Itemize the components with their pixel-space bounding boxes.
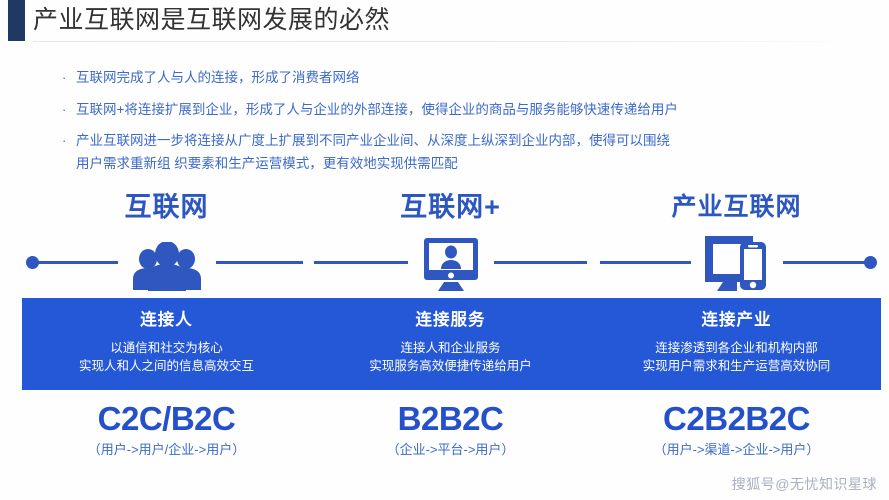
column-internet: 互联网: [22, 190, 311, 460]
icon-row: [592, 230, 881, 292]
slide-root: 产业互联网是互联网发展的必然 · 互联网完成了人与人的连接，形成了消费者网络 ·…: [0, 0, 889, 500]
slide-header: 产业互联网是互联网发展的必然: [0, 0, 889, 42]
card-connect-service: 连接服务 连接人和企业服务 实现服务高效便捷传递给用户: [306, 298, 595, 390]
connector-line-left: [600, 261, 698, 264]
card-title: 连接产业: [702, 309, 772, 331]
connector-line-left: [30, 261, 128, 264]
column-title: 产业互联网: [592, 190, 881, 230]
icon-row: [306, 230, 595, 292]
business-model-code: C2B2B2C: [592, 399, 881, 439]
card-description: 连接渗透到各企业和机构内部 实现用户需求和生产运营高效协同: [643, 340, 831, 375]
bullet-line-1: 互联网完成了人与人的连接，形成了消费者网络: [76, 70, 360, 85]
card-connect-people: 连接人 以通信和社交为核心 实现人和人之间的信息高效交互: [22, 298, 311, 390]
bullet-line-1: 产业互联网进一步将连接从广度上扩展到不同产业企业间、从深度上纵深到企业内部，使得…: [76, 133, 670, 148]
column-internet-plus: 互联网+: [306, 190, 595, 460]
bullet-list: · 互联网完成了人与人的连接，形成了消费者网络 · 互联网+将连接扩展到企业，形…: [62, 67, 862, 184]
column-title: 互联网: [22, 190, 311, 230]
card-desc-line-2: 实现人和人之间的信息高效交互: [79, 358, 254, 376]
header-accent-bar: [8, 0, 25, 41]
connector-line-right: [489, 261, 587, 264]
connector-dot-right-icon: [864, 256, 877, 269]
list-item: · 互联网+将连接扩展到企业，形成了人与企业的外部连接，使得企业的商品与服务能够…: [62, 99, 862, 122]
card-desc-line-2: 实现服务高效便捷传递给用户: [369, 358, 532, 376]
card-desc-line-1: 连接渗透到各企业和机构内部: [643, 340, 831, 358]
business-model-code: C2C/B2C: [22, 399, 311, 439]
bullet-marker-icon: ·: [62, 130, 76, 152]
business-model-flow: （用户->用户/企业->用户）: [22, 440, 311, 460]
card-description: 连接人和企业服务 实现服务高效便捷传递给用户: [369, 340, 532, 375]
business-model-code: B2B2C: [306, 399, 595, 439]
column-industrial-internet: 产业互联网: [592, 190, 881, 460]
connector-line-right: [205, 261, 303, 264]
watermark: 搜狐号@无忧知识星球: [732, 474, 877, 494]
header-divider: [33, 41, 878, 42]
business-model-flow: （用户->渠道->企业->用户）: [592, 440, 881, 460]
monitor-phone-icon: [691, 230, 783, 292]
connector-line-right: [775, 261, 873, 264]
card-description: 以通信和社交为核心 实现人和人之间的信息高效交互: [79, 340, 254, 375]
card-title: 连接服务: [416, 309, 486, 331]
bullet-text: 互联网+将连接扩展到企业，形成了人与企业的外部连接，使得企业的商品与服务能够快速…: [76, 99, 862, 122]
connector-dot-left-icon: [26, 256, 39, 269]
list-item: · 互联网完成了人与人的连接，形成了消费者网络: [62, 67, 862, 90]
connector-line-left: [314, 261, 412, 264]
icon-row: [22, 230, 311, 292]
business-model-flow: （企业->平台->用户）: [306, 440, 595, 460]
list-item: · 产业互联网进一步将连接从广度上扩展到不同产业企业间、从深度上纵深到企业内部，…: [62, 130, 862, 175]
bullet-line-1: 互联网+将连接扩展到企业，形成了人与企业的外部连接，使得企业的商品与服务能够快速…: [76, 102, 678, 117]
bullet-text: 互联网完成了人与人的连接，形成了消费者网络: [76, 67, 862, 90]
bullet-marker-icon: ·: [62, 67, 76, 89]
card-desc-line-1: 连接人和企业服务: [369, 340, 532, 358]
card-desc-line-2: 实现用户需求和生产运营高效协同: [643, 358, 831, 376]
card-title: 连接人: [140, 309, 193, 331]
bullet-marker-icon: ·: [62, 99, 76, 121]
columns-container: 互联网: [0, 190, 889, 500]
card-connect-industry: 连接产业 连接渗透到各企业和机构内部 实现用户需求和生产运营高效协同: [592, 298, 881, 390]
column-title: 互联网+: [306, 190, 595, 230]
page-title: 产业互联网是互联网发展的必然: [33, 3, 390, 37]
people-group-icon: [118, 230, 216, 292]
card-desc-line-1: 以通信和社交为核心: [79, 340, 254, 358]
monitor-user-icon: [408, 230, 494, 292]
bullet-line-2: 用户需求重新组 织要素和生产运营模式，更有效地实现供需匹配: [76, 153, 862, 176]
bullet-text: 产业互联网进一步将连接从广度上扩展到不同产业企业间、从深度上纵深到企业内部，使得…: [76, 130, 862, 175]
